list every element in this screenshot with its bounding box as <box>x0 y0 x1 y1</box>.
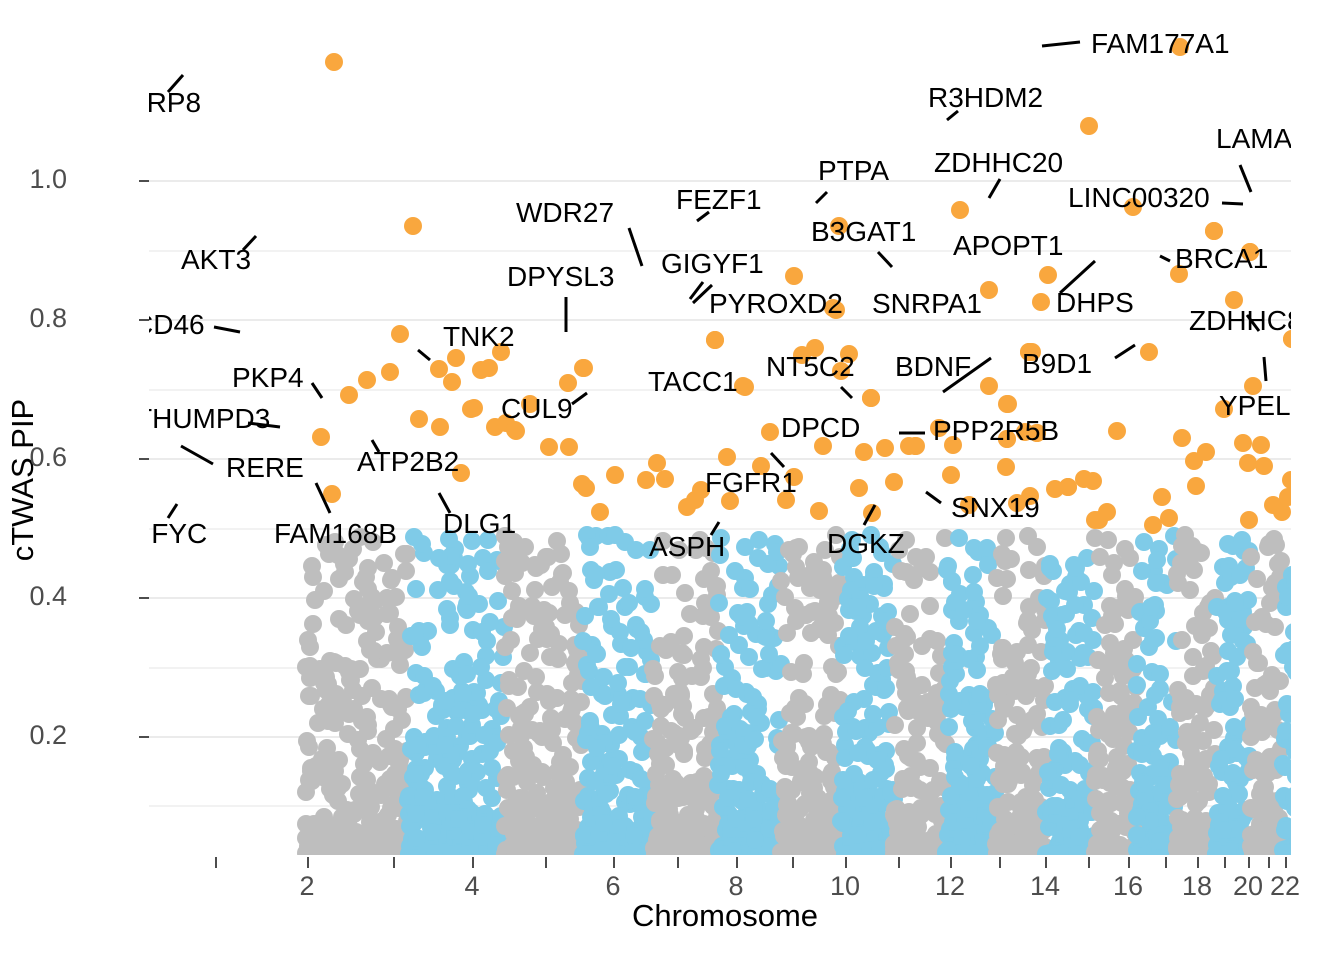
x-tick-mark <box>1224 857 1226 868</box>
gene-label: AKT3 <box>181 244 251 276</box>
x-tick-mark <box>677 857 679 868</box>
gene-label: FAM177A1 <box>1091 28 1230 60</box>
y-tick-label: 0.8 <box>0 303 67 334</box>
gene-label: YPEL1 <box>1219 390 1291 422</box>
gene-label: ZDHHC8 <box>1189 305 1291 337</box>
y-tick-mark <box>139 180 149 182</box>
manhattan-plot-figure: cTWAS PIP Chromosome 1.00.80.60.40.2 246… <box>0 0 1344 960</box>
gene-label: DHPS <box>1056 287 1134 319</box>
x-tick-label: 12 <box>920 871 980 902</box>
y-tick-mark <box>139 597 149 599</box>
leader-line <box>1240 165 1251 192</box>
x-tick-label: 22 <box>1255 871 1315 902</box>
leader-line <box>878 252 892 267</box>
gene-label: DPCD <box>781 412 860 444</box>
x-tick-mark <box>845 857 847 868</box>
y-axis-title: cTWAS PIP <box>0 0 46 960</box>
x-tick-label: 4 <box>442 871 502 902</box>
leader-line <box>771 453 784 467</box>
y-tick-label: 0.6 <box>0 442 67 473</box>
x-tick-label: 6 <box>583 871 643 902</box>
leader-line <box>926 492 941 503</box>
y-tick-label: 1.0 <box>0 164 67 195</box>
leader-line <box>572 393 587 404</box>
x-tick-mark <box>1248 857 1250 868</box>
y-tick-mark <box>139 736 149 738</box>
x-axis-title: Chromosome <box>160 898 1290 938</box>
leader-line <box>1222 203 1243 204</box>
leader-line <box>1115 345 1135 358</box>
x-tick-label: 10 <box>815 871 875 902</box>
x-tick-mark <box>1197 857 1199 868</box>
gene-label: RERE <box>226 452 304 484</box>
gene-label: THUMPD3 <box>149 403 270 435</box>
gene-label: SNX19 <box>951 492 1040 524</box>
x-tick-label: 16 <box>1098 871 1158 902</box>
gene-label: ASPH <box>649 531 725 563</box>
gene-label: ZDHHC20 <box>934 147 1063 179</box>
leader-line <box>418 350 430 360</box>
leader-line <box>312 383 322 398</box>
leader-lines <box>149 10 1291 855</box>
gene-label: CD46 <box>149 309 205 341</box>
leader-line <box>816 192 827 203</box>
gene-label: CUL9 <box>501 393 573 425</box>
x-tick-label: 2 <box>277 871 337 902</box>
leader-line <box>841 387 852 398</box>
gene-label: R3HDM2 <box>928 82 1043 114</box>
gene-label: PKP4 <box>232 362 304 394</box>
gene-label: WDR27 <box>516 197 614 229</box>
gene-label: APOPT1 <box>953 230 1063 262</box>
x-tick-mark <box>472 857 474 868</box>
x-tick-mark <box>613 857 615 868</box>
gene-label: PYROXD2 <box>709 288 843 320</box>
gene-label: PPP2R5B <box>933 415 1059 447</box>
x-tick-mark <box>215 857 217 868</box>
gene-label: FAM168B <box>274 518 397 550</box>
leader-line <box>1042 42 1080 46</box>
gene-label: B3GAT1 <box>811 216 916 248</box>
gene-label: DLG1 <box>443 508 516 540</box>
y-tick-mark <box>139 458 149 460</box>
gene-label: ATP2B2 <box>357 446 459 478</box>
gene-label: DGKZ <box>827 528 905 560</box>
x-tick-mark <box>1165 857 1167 868</box>
gene-label: TACC1 <box>648 366 738 398</box>
x-tick-mark <box>1128 857 1130 868</box>
leader-line <box>168 504 177 518</box>
x-tick-label: 8 <box>706 871 766 902</box>
leader-line <box>316 483 330 513</box>
x-tick-mark <box>393 857 395 868</box>
gene-label: NFYC <box>149 518 207 550</box>
leader-line <box>181 446 213 464</box>
y-tick-label: 0.2 <box>0 720 67 751</box>
leader-line <box>1160 256 1170 261</box>
x-tick-mark <box>1285 857 1287 868</box>
gene-label: B9D1 <box>1022 348 1092 380</box>
gene-label: SNRPA1 <box>872 288 982 320</box>
gene-label: NT5C2 <box>766 351 855 383</box>
x-tick-mark <box>950 857 952 868</box>
plot-panel: LRP8AKT3CD46THUMPD3NFYCREREPKP4ATP2B2FAM… <box>149 10 1291 855</box>
gene-label: DPYSL3 <box>507 261 614 293</box>
x-tick-mark <box>1268 857 1270 868</box>
y-tick-mark <box>139 319 149 321</box>
x-tick-mark <box>792 857 794 868</box>
leader-line <box>864 505 875 525</box>
gene-label: FEZF1 <box>676 184 762 216</box>
x-tick-label: 14 <box>1015 871 1075 902</box>
x-tick-mark <box>1045 857 1047 868</box>
leader-line <box>214 327 240 332</box>
gene-label: BRCA1 <box>1175 243 1268 275</box>
gene-label: LAMA5 <box>1216 123 1291 155</box>
gene-label: GIGYF1 <box>661 248 764 280</box>
y-tick-label: 0.4 <box>0 581 67 612</box>
gene-label: FGFR1 <box>705 467 797 499</box>
x-tick-mark <box>736 857 738 868</box>
x-tick-mark <box>307 857 309 868</box>
gene-label: TNK2 <box>443 321 515 353</box>
gene-label: LINC00320 <box>1068 182 1210 214</box>
x-tick-mark <box>999 857 1001 868</box>
x-tick-mark <box>898 857 900 868</box>
x-tick-mark <box>1088 857 1090 868</box>
gene-label: PTPA <box>818 155 889 187</box>
leader-line <box>1264 357 1266 381</box>
leader-line <box>629 228 642 266</box>
leader-line <box>989 179 1000 198</box>
x-tick-mark <box>545 857 547 868</box>
gene-label: BDNF <box>895 351 971 383</box>
gene-label: LRP8 <box>149 87 201 119</box>
